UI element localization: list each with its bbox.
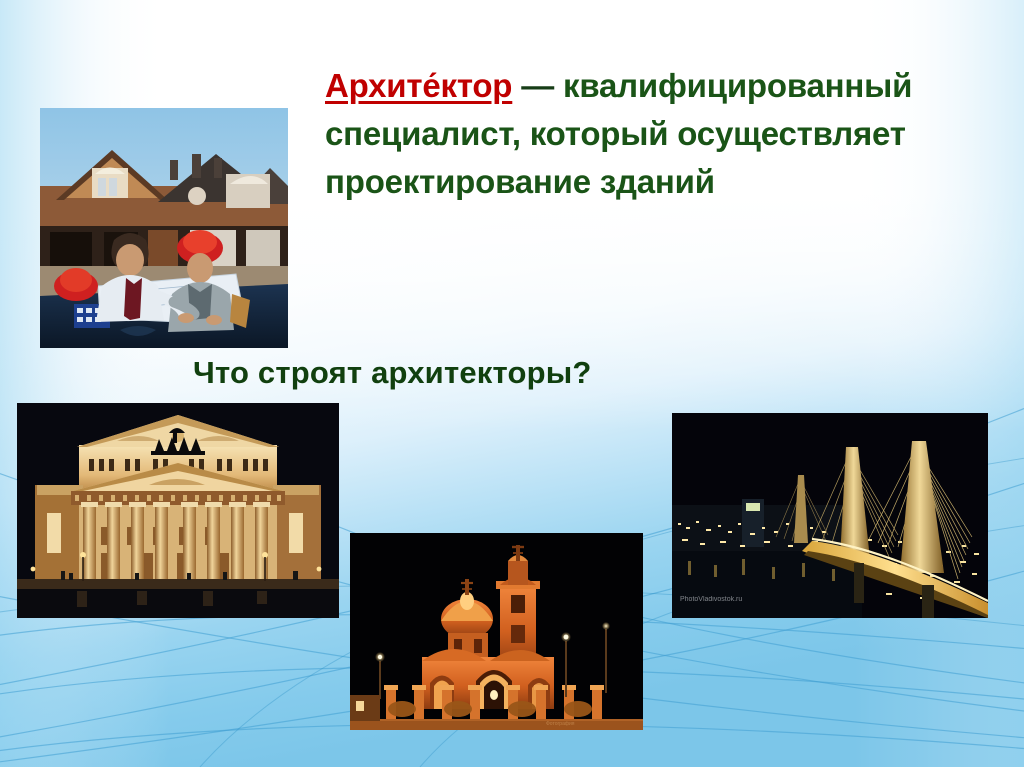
theatre-photo-art [17,403,339,618]
svg-text:Фотография: Фотография [546,721,575,727]
slide: Фотография [0,0,1024,767]
zolotoy-bridge-photo: PhotoVladivostok.ru [672,413,988,618]
bridge-watermark-text: PhotoVladivostok.ru [680,596,742,603]
question-heading: Что строят архитекторы? [193,355,833,391]
architects-photo-art [40,108,288,348]
architects-with-blueprint-photo [40,108,288,348]
definition-text: Архите́ктор — квалифицированный специали… [325,62,953,206]
church-photo-art: Фотография [350,533,643,730]
bolshoi-theatre-photo [17,403,339,618]
term-architect: Архите́ктор [325,67,512,104]
em-dash: — [521,67,554,104]
orthodox-church-photo: Фотография [350,533,643,730]
bridge-photo-art: PhotoVladivostok.ru [672,413,988,618]
